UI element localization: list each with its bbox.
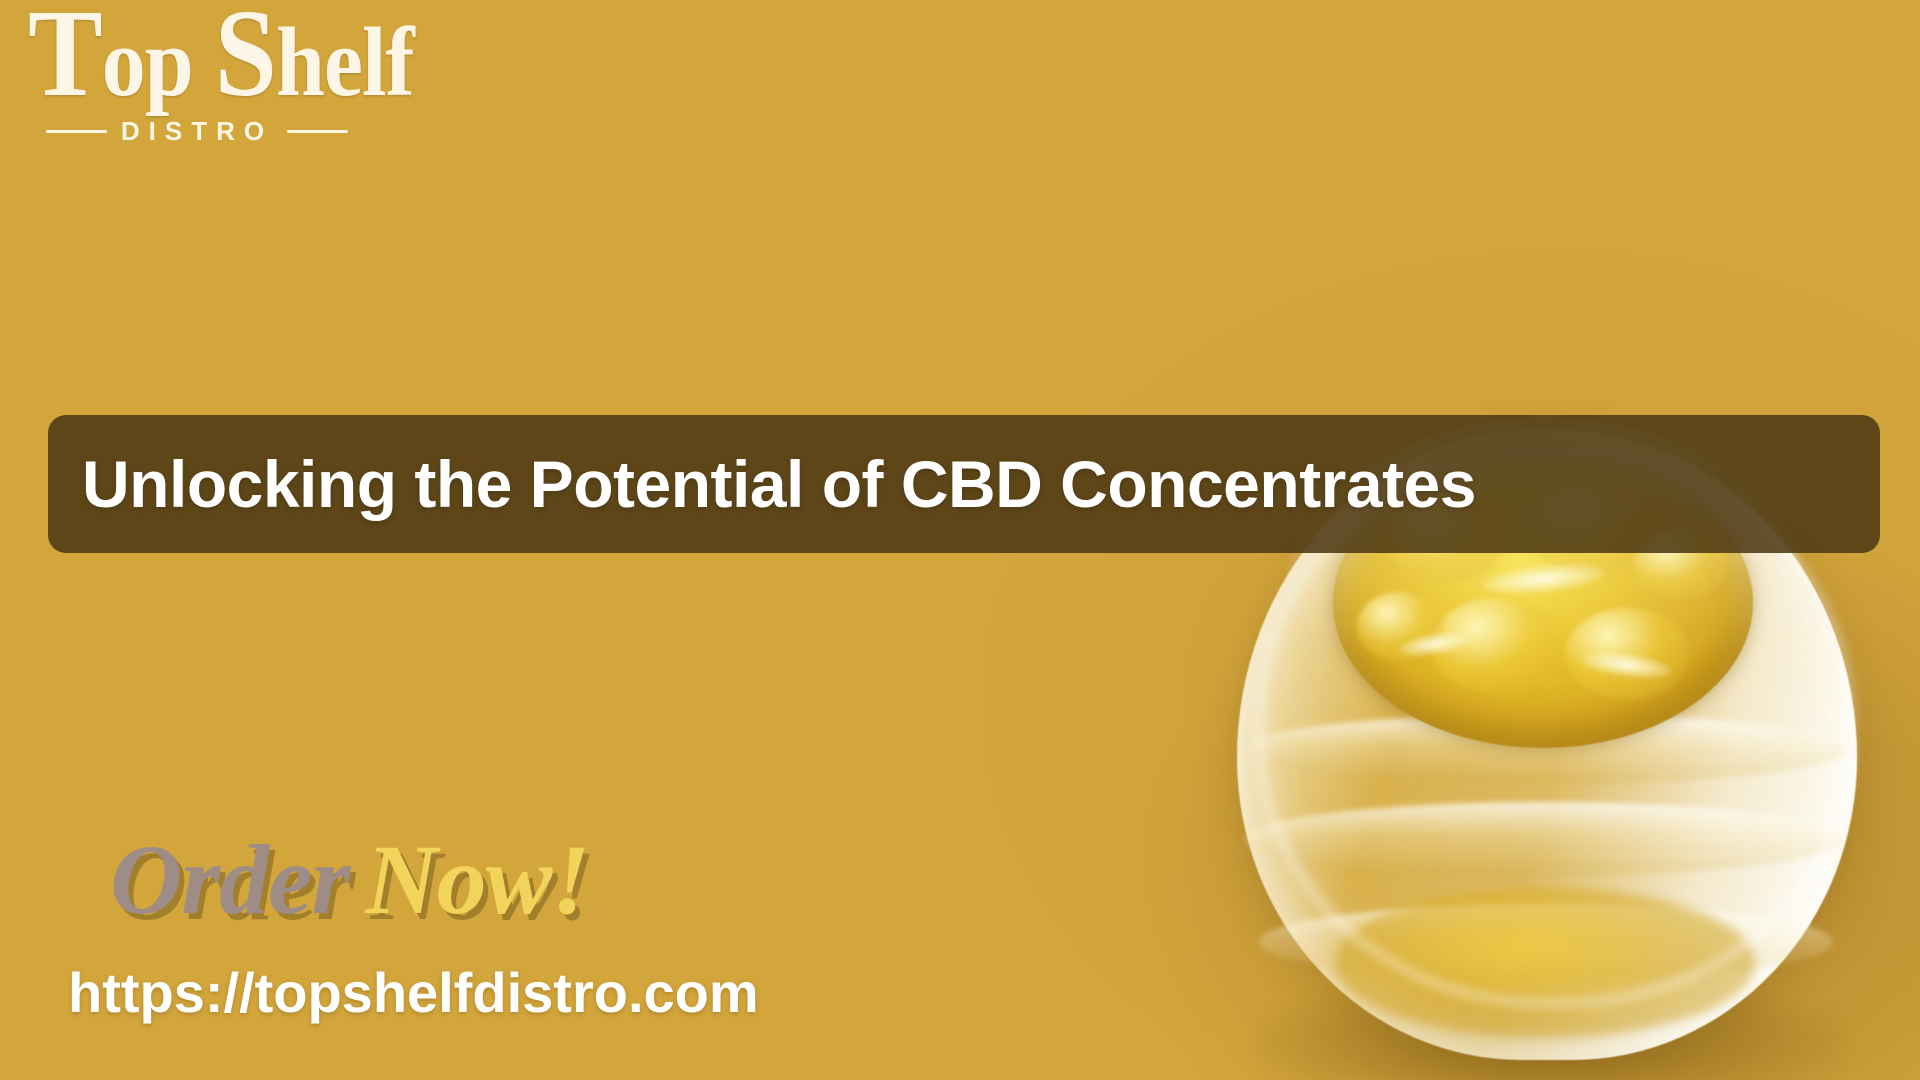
headline-bar: Unlocking the Potential of CBD Concentra… xyxy=(48,415,1880,553)
jar-base-concentrate-pool xyxy=(1335,888,1755,1038)
cta-line: OrderNow! xyxy=(110,824,589,935)
jar-glass-band xyxy=(1259,904,1833,980)
concentrate-highlight xyxy=(1482,560,1604,598)
jar-drop-shadow xyxy=(1255,978,1845,1080)
order-now-callout[interactable]: OrderNow! xyxy=(110,830,589,930)
top-shelf-distro-logo[interactable]: Top Shelf DISTRO xyxy=(18,8,438,158)
logo-word-top: Top xyxy=(28,0,193,112)
concentrate-blob xyxy=(1431,598,1561,694)
page-title: Unlocking the Potential of CBD Concentra… xyxy=(82,451,1476,517)
logo-rule-right xyxy=(287,130,348,133)
website-url[interactable]: https://topshelfdistro.com xyxy=(68,965,759,1021)
jar-glass-band xyxy=(1245,714,1849,784)
logo-word-shelf: Shelf xyxy=(215,0,414,112)
concentrate-highlight xyxy=(1398,628,1470,660)
logo-wordmark: Top Shelf xyxy=(18,8,438,112)
concentrate-blob xyxy=(1357,592,1443,662)
cta-word-order: Order xyxy=(110,824,349,935)
promo-banner: Top Shelf DISTRO Unloc xyxy=(0,0,1920,1080)
jar-glass-band xyxy=(1245,802,1843,876)
cta-word-now: Now! xyxy=(365,824,589,935)
concentrate-highlight xyxy=(1582,648,1672,682)
logo-rule-left xyxy=(46,130,107,133)
concentrate-blob xyxy=(1565,608,1689,700)
